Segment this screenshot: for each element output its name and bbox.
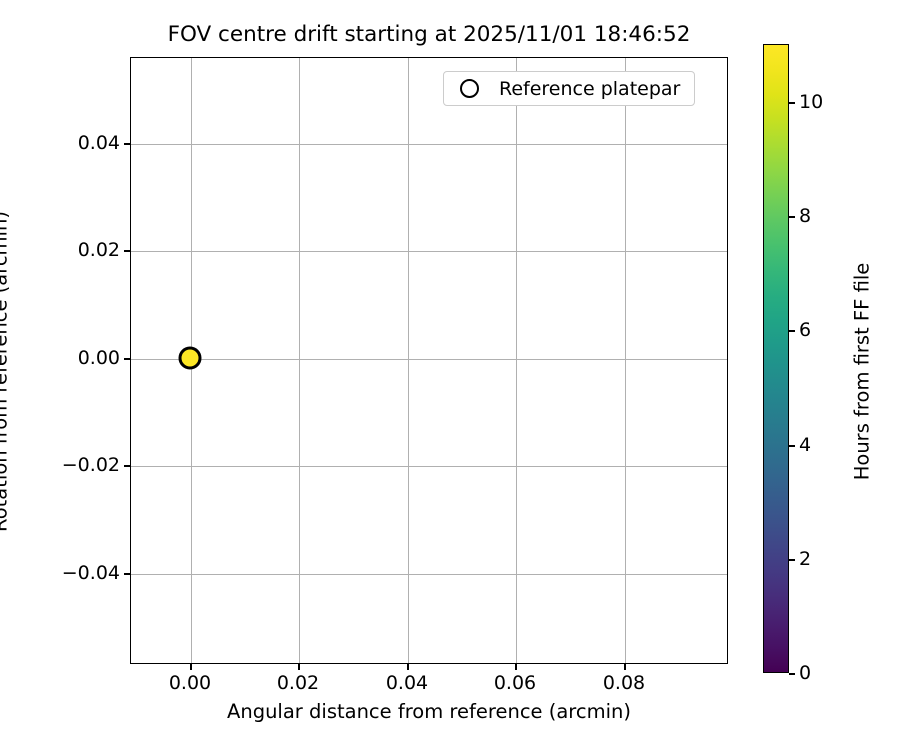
- gridline-vertical: [299, 58, 300, 663]
- colorbar-tick-label: 0: [799, 662, 811, 684]
- x-tick-mark: [298, 664, 300, 670]
- x-tick-label: 0.02: [277, 672, 319, 694]
- y-tick-label: −0.04: [62, 562, 120, 584]
- gridline-horizontal: [131, 251, 727, 252]
- y-tick-mark: [124, 143, 130, 145]
- page-title: FOV centre drift starting at 2025/11/01 …: [130, 24, 728, 46]
- colorbar-tick-mark: [789, 102, 795, 104]
- colorbar-label: Hours from first FF file: [851, 263, 874, 481]
- x-tick-label: 0.00: [169, 672, 211, 694]
- x-tick-mark: [624, 664, 626, 670]
- colorbar-tick-label: 2: [799, 548, 811, 570]
- gridline-vertical: [625, 58, 626, 663]
- gridline-horizontal: [131, 144, 727, 145]
- x-tick-label: 0.04: [386, 672, 428, 694]
- x-axis-label: Angular distance from reference (arcmin): [130, 700, 728, 723]
- plot-axes: [130, 57, 728, 664]
- colorbar-tick-mark: [789, 673, 795, 675]
- gridline-horizontal: [131, 359, 727, 360]
- grid-layer: [131, 58, 727, 663]
- scatter-point: [179, 347, 202, 370]
- x-tick-mark: [190, 664, 192, 670]
- legend[interactable]: Reference platepar: [443, 71, 695, 106]
- y-tick-label: 0.04: [78, 132, 120, 154]
- y-tick-mark: [124, 250, 130, 252]
- y-tick-mark: [124, 465, 130, 467]
- matplotlib-figure: FOV centre drift starting at 2025/11/01 …: [0, 0, 900, 750]
- y-tick-label: 0.02: [78, 239, 120, 261]
- y-tick-mark: [124, 358, 130, 360]
- x-tick-mark: [515, 664, 517, 670]
- legend-marker-icon: [460, 79, 479, 98]
- x-tick-mark: [407, 664, 409, 670]
- gridline-horizontal: [131, 574, 727, 575]
- y-tick-label: −0.02: [62, 454, 120, 476]
- colorbar-gradient: [763, 44, 789, 673]
- colorbar-tick-mark: [789, 330, 795, 332]
- colorbar-tick-label: 4: [799, 434, 811, 456]
- colorbar-tick-label: 6: [799, 319, 811, 341]
- gridline-vertical: [408, 58, 409, 663]
- x-tick-label: 0.08: [603, 672, 645, 694]
- gridline-vertical: [516, 58, 517, 663]
- y-tick-label: 0.00: [78, 347, 120, 369]
- colorbar-tick-mark: [789, 216, 795, 218]
- x-tick-label: 0.06: [494, 672, 536, 694]
- colorbar-tick-label: 8: [799, 205, 811, 227]
- colorbar: [763, 44, 789, 673]
- y-axis-label: Rotation from reference (arcmin): [0, 211, 12, 532]
- y-tick-mark: [124, 573, 130, 575]
- colorbar-tick-mark: [789, 559, 795, 561]
- gridline-horizontal: [131, 466, 727, 467]
- colorbar-tick-label: 10: [799, 91, 823, 113]
- legend-item-label: Reference platepar: [499, 78, 680, 100]
- colorbar-tick-mark: [789, 445, 795, 447]
